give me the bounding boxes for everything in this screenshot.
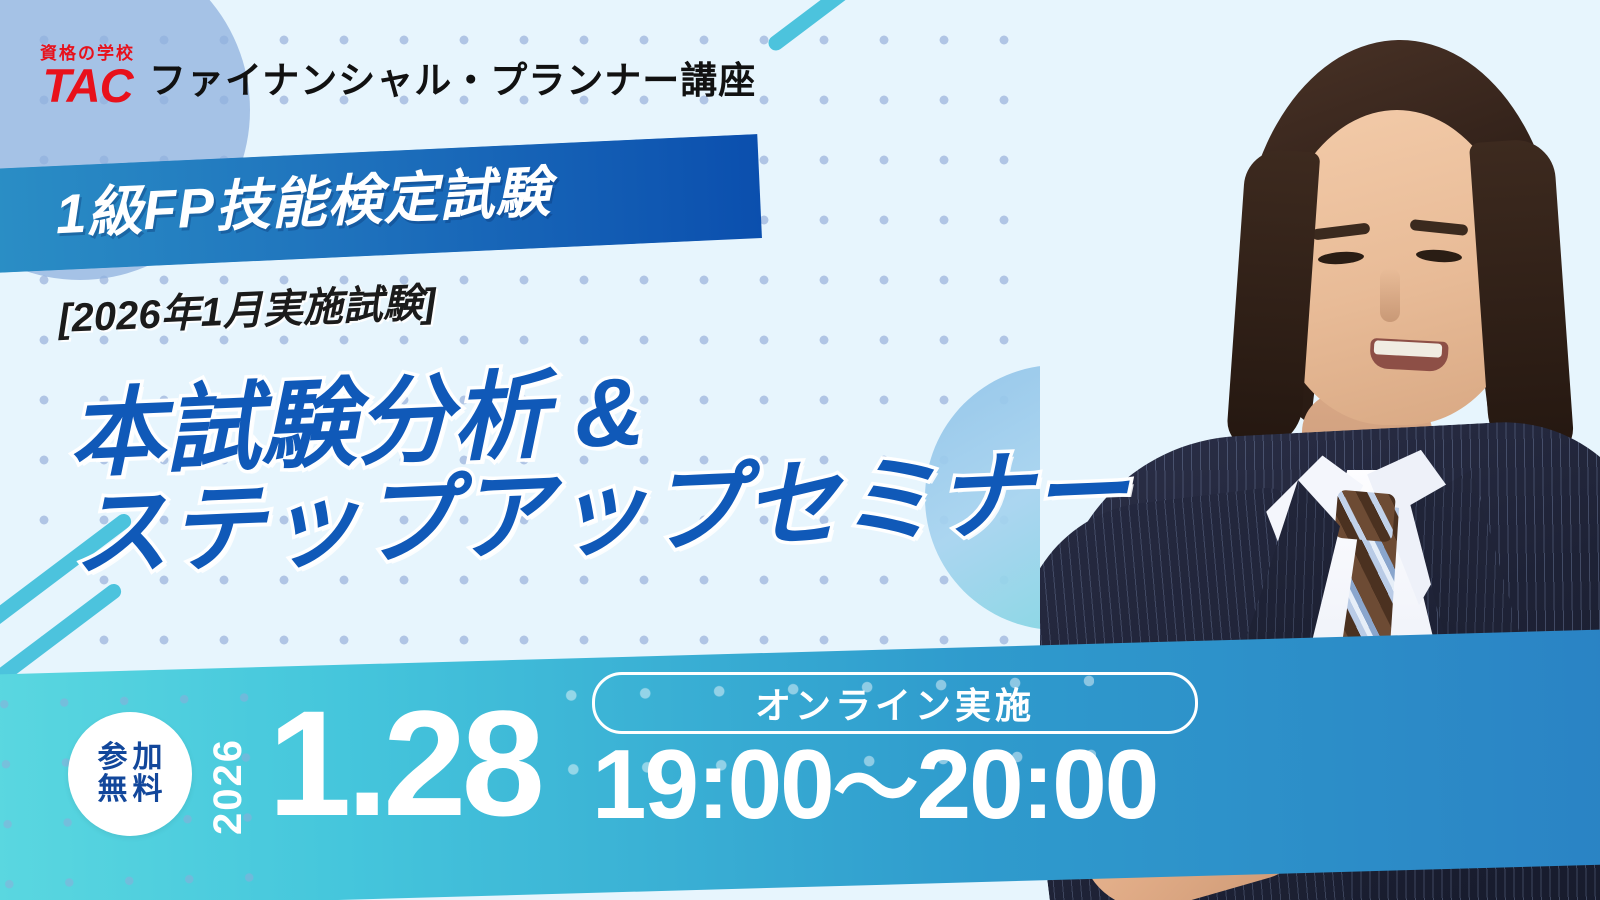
time-end: 20:00: [917, 729, 1158, 839]
course-title: ファイナンシャル・プランナー講座: [149, 50, 756, 107]
event-time-range: 19:00〜20:00: [592, 735, 1157, 833]
event-date: 1.28: [268, 688, 540, 838]
time-separator: 〜: [833, 741, 917, 837]
seminar-banner: 資格の学校 TAC ファイナンシャル・プランナー講座 1級FP技能検定試験 [2…: [0, 0, 1600, 900]
time-start: 19:00: [592, 729, 833, 839]
necktie-knot: [1334, 490, 1396, 543]
delivery-format-pill: オンライン実施: [592, 672, 1198, 734]
logo-wordmark: TAC: [42, 64, 132, 107]
brand-header: 資格の学校 TAC ファイナンシャル・プランナー講座: [40, 45, 756, 107]
free-badge-line-1: 参加: [93, 742, 168, 774]
nose-shape: [1380, 268, 1400, 322]
delivery-format-label: オンライン実施: [755, 677, 1035, 729]
headline: 本試験分析 & ステップアップセミナー: [66, 340, 1130, 587]
free-admission-badge: 参加 無料: [68, 712, 192, 836]
event-year: 2026: [206, 707, 251, 835]
tac-logo: 資格の学校 TAC: [40, 45, 135, 107]
free-badge-line-2: 無料: [93, 774, 168, 806]
